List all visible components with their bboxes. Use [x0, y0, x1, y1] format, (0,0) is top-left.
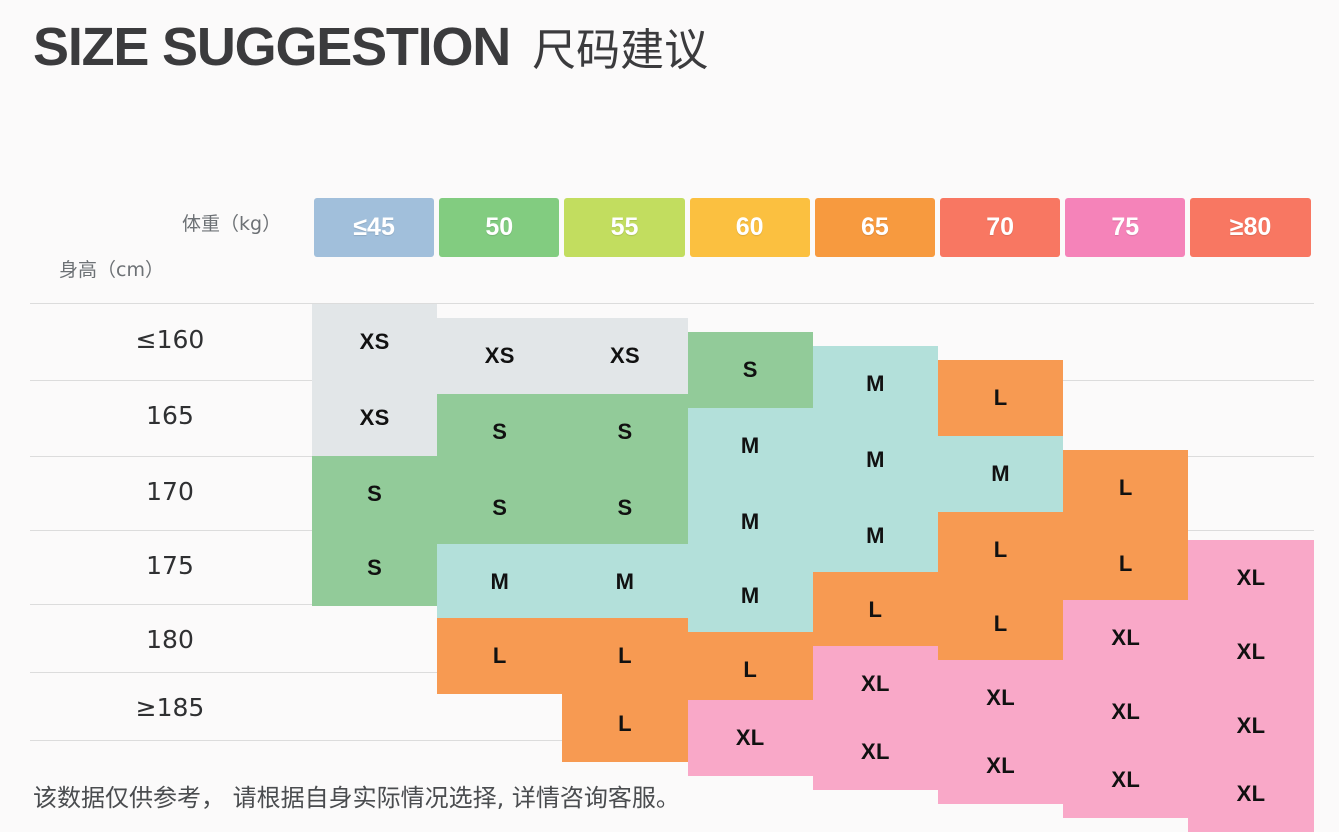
size-cell: XL: [1063, 600, 1188, 676]
size-cell: XL: [1188, 614, 1313, 690]
size-cell: M: [562, 544, 687, 620]
weight-header-cell: 75: [1065, 198, 1185, 257]
size-cell: M: [437, 544, 562, 620]
size-cell: M: [688, 408, 813, 484]
weight-header-cell: 60: [690, 198, 810, 257]
weight-header-cell: 50: [439, 198, 559, 257]
height-row-label: 170: [30, 477, 310, 506]
size-cell: XL: [1188, 540, 1313, 616]
size-cell: XL: [813, 646, 938, 722]
size-cell: L: [562, 618, 687, 694]
size-cell: XS: [312, 380, 437, 456]
size-cell: S: [562, 470, 687, 546]
size-suggestion-table: ≤45505560657075≥80≤160165170175180≥185XS…: [0, 0, 1339, 822]
size-cell: S: [437, 394, 562, 470]
footnote-text: 该数据仅供参考， 请根据自身实际情况选择, 详情咨询客服。: [33, 778, 680, 813]
size-cell: M: [813, 498, 938, 574]
size-cell: XL: [1188, 688, 1313, 764]
size-cell: L: [1063, 526, 1188, 602]
size-cell: S: [312, 456, 437, 532]
size-cell: M: [688, 484, 813, 560]
size-cell: L: [938, 512, 1063, 588]
size-cell: XS: [562, 318, 687, 394]
weight-header-cell: ≥80: [1190, 198, 1310, 257]
size-cell: M: [813, 346, 938, 422]
size-cell: XL: [1063, 742, 1188, 818]
size-cell: L: [938, 586, 1063, 662]
size-cell: XL: [1188, 756, 1313, 832]
size-cell: XL: [1063, 674, 1188, 750]
size-cell: L: [688, 632, 813, 708]
size-cell: XL: [688, 700, 813, 776]
height-row-label: ≥185: [30, 693, 310, 722]
size-cell: S: [312, 530, 437, 606]
row-divider: [30, 303, 1314, 304]
weight-header-cell: 70: [940, 198, 1060, 257]
size-cell: M: [813, 422, 938, 498]
size-cell: XL: [813, 714, 938, 790]
size-cell: XL: [938, 660, 1063, 736]
weight-header-cell: 55: [564, 198, 684, 257]
size-cell: L: [813, 572, 938, 648]
size-cell: L: [1063, 450, 1188, 526]
height-row-label: 175: [30, 551, 310, 580]
weight-header-cell: ≤45: [314, 198, 434, 257]
size-cell: S: [562, 394, 687, 470]
height-row-label: 165: [30, 401, 310, 430]
size-cell: L: [938, 360, 1063, 436]
size-cell: XS: [437, 318, 562, 394]
height-row-label: ≤160: [30, 325, 310, 354]
size-cell: XS: [312, 304, 437, 380]
size-cell: L: [562, 686, 687, 762]
size-cell: M: [938, 436, 1063, 512]
size-cell: XL: [938, 728, 1063, 804]
size-cell: S: [437, 470, 562, 546]
size-cell: S: [688, 332, 813, 408]
size-cell: M: [688, 558, 813, 634]
size-cell: L: [437, 618, 562, 694]
height-row-label: 180: [30, 625, 310, 654]
weight-header-cell: 65: [815, 198, 935, 257]
